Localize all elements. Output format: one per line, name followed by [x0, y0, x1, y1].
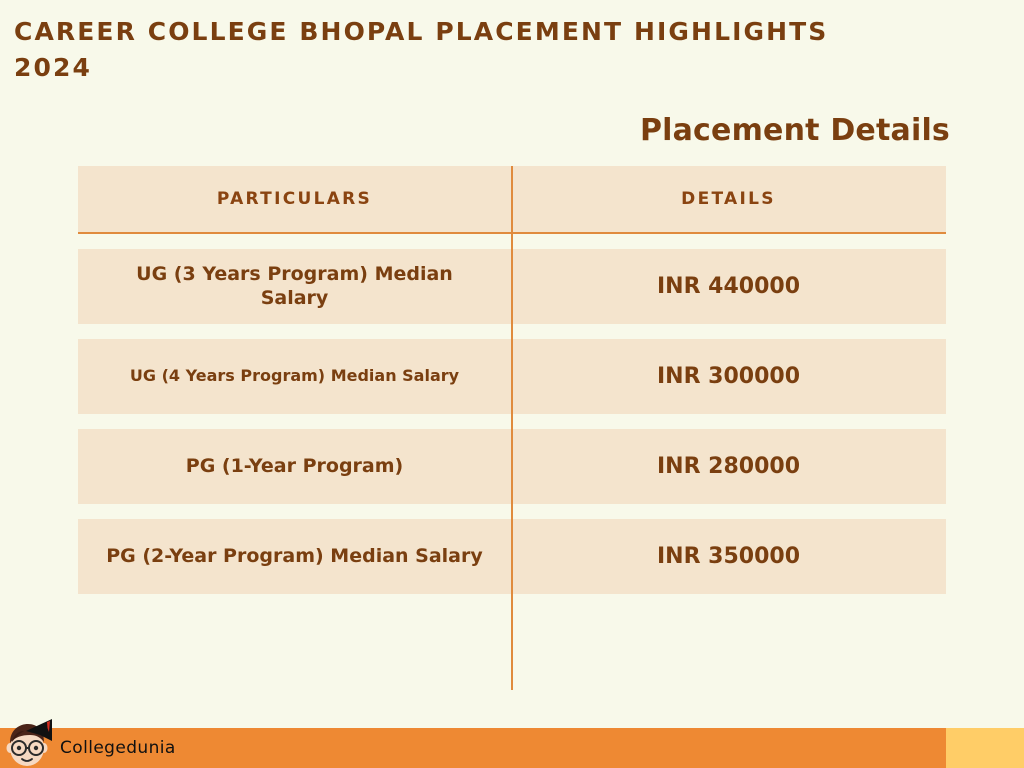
cell-detail: INR 300000 — [511, 339, 946, 414]
cell-detail: INR 350000 — [511, 519, 946, 594]
column-header-particulars: Particulars — [78, 166, 511, 232]
cell-detail: INR 440000 — [511, 249, 946, 324]
cell-particular: PG (2-Year Program) Median Salary — [78, 519, 511, 594]
footer-accent-block — [946, 728, 1024, 768]
section-title: Placement Details — [640, 113, 950, 148]
cell-particular: UG (3 Years Program) Median Salary — [78, 249, 511, 324]
cell-particular: PG (1-Year Program) — [78, 429, 511, 504]
footer-bar: Collegedunia — [0, 728, 1024, 768]
cell-detail: INR 280000 — [511, 429, 946, 504]
page-title: Career College Bhopal Placement Highligh… — [14, 14, 914, 87]
brand-name: Collegedunia — [60, 738, 176, 758]
column-header-details: Details — [511, 166, 946, 232]
cell-particular: UG (4 Years Program) Median Salary — [78, 339, 511, 414]
column-divider-line — [511, 166, 513, 690]
footer-brand-bar: Collegedunia — [0, 728, 946, 768]
graduate-mascot-icon — [6, 715, 54, 768]
